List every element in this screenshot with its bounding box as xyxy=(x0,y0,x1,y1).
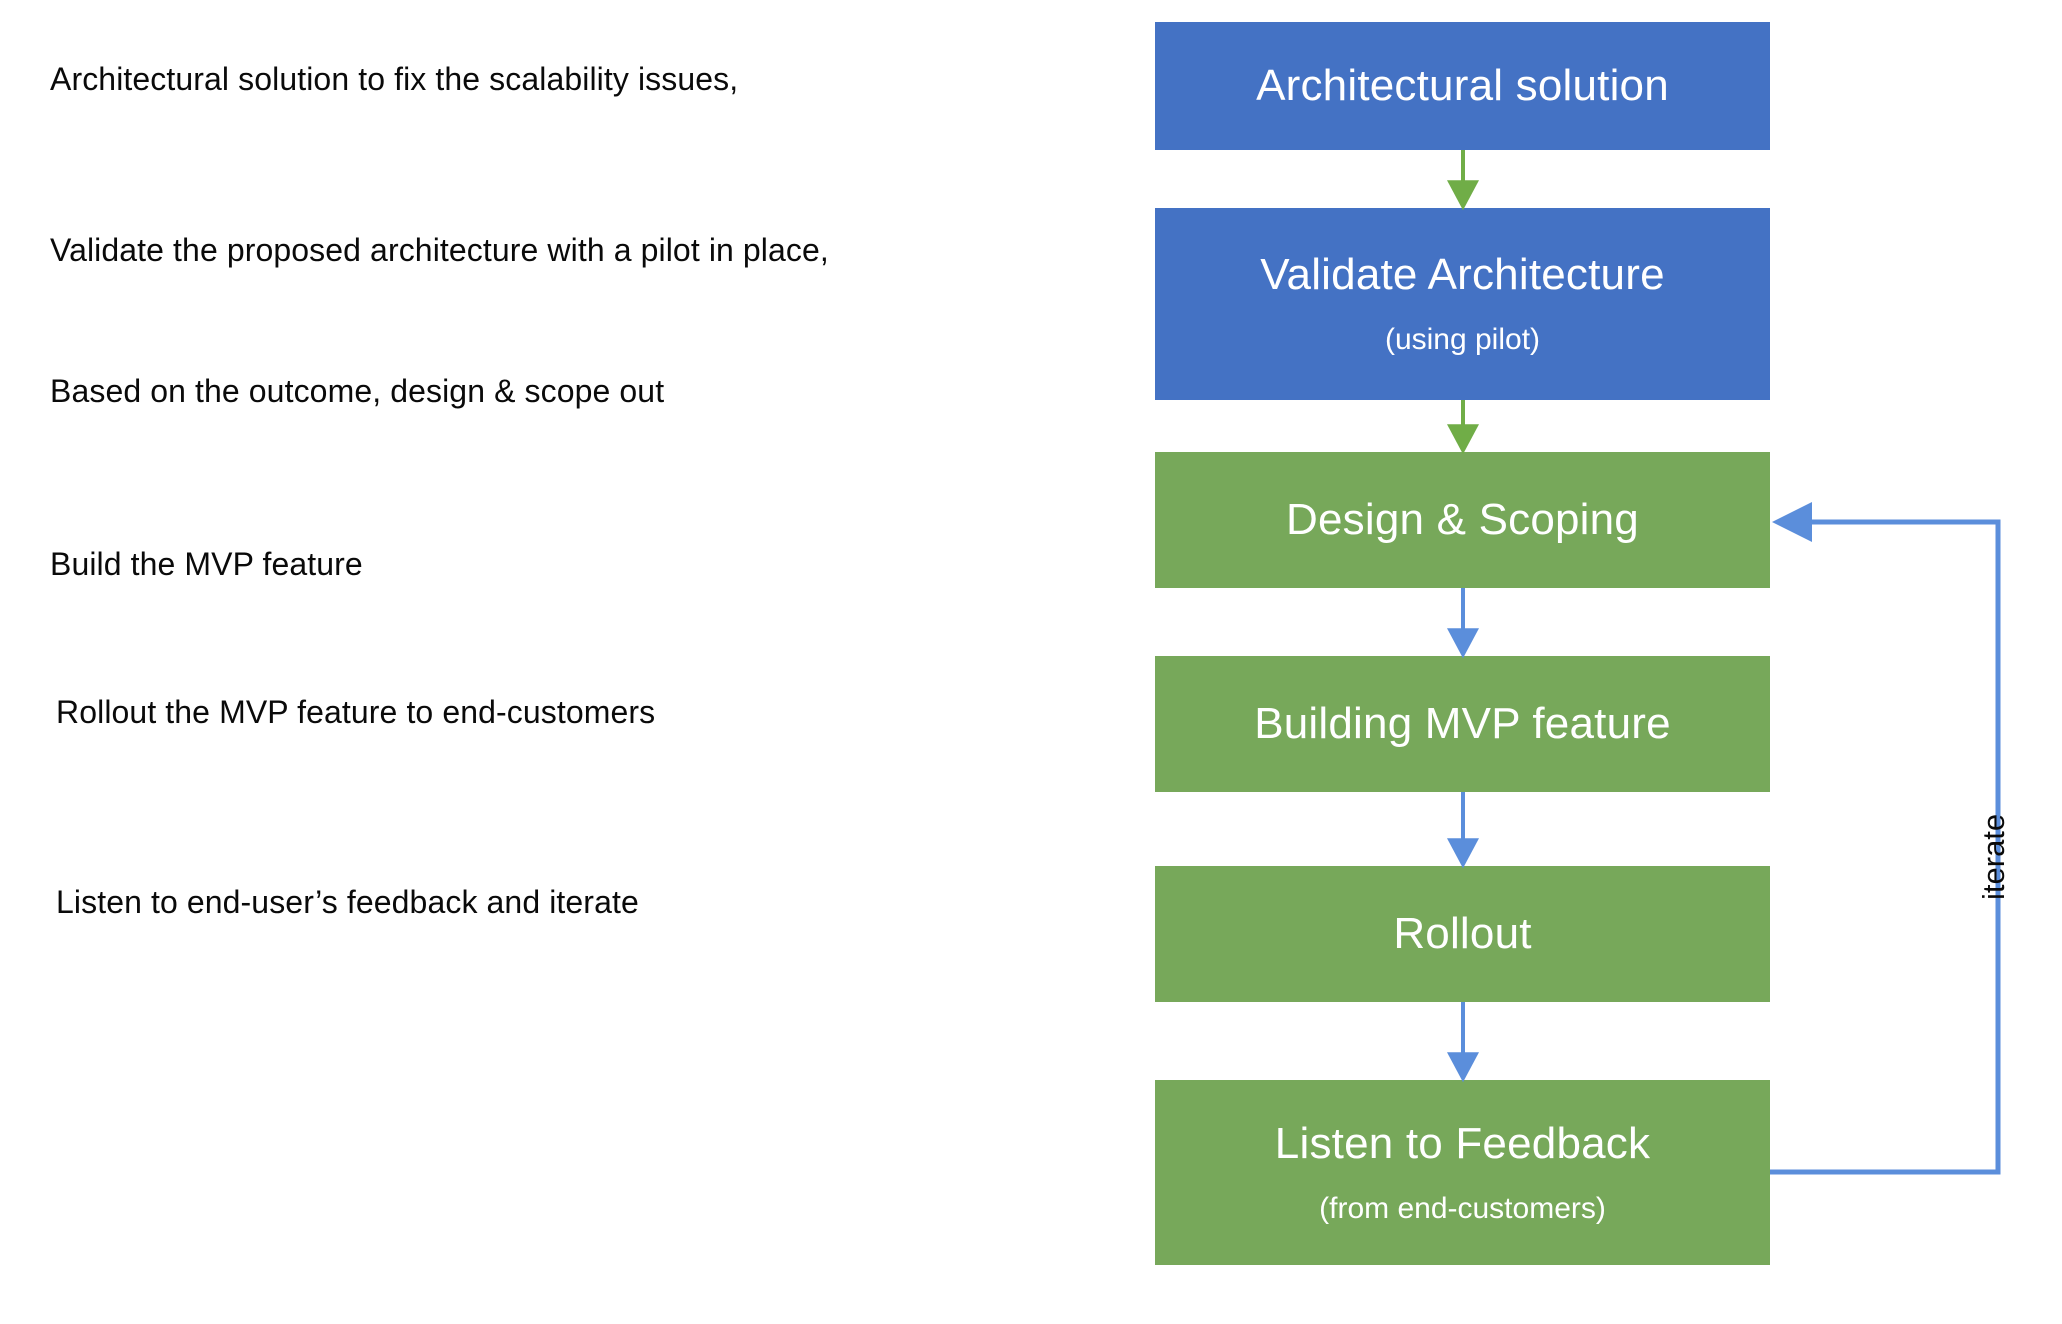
note-line-4: Build the MVP feature xyxy=(50,545,363,583)
flow-node-building-mvp-feature[interactable]: Building MVP feature xyxy=(1155,656,1770,792)
note-line-5: Rollout the MVP feature to end-customers xyxy=(56,693,655,731)
flow-node-title: Listen to Feedback xyxy=(1275,1121,1650,1167)
iterate-loop-label: iterate xyxy=(1976,814,2012,900)
connector-iterate-loop xyxy=(1770,522,1998,1172)
flow-node-title: Validate Architecture xyxy=(1260,252,1665,298)
note-line-2: Validate the proposed architecture with … xyxy=(50,231,829,269)
note-line-1: Architectural solution to fix the scalab… xyxy=(50,60,738,98)
flow-node-subtitle: (from end-customers) xyxy=(1319,1193,1606,1225)
note-line-3: Based on the outcome, design & scope out xyxy=(50,372,664,410)
flow-node-title: Rollout xyxy=(1393,911,1531,957)
flow-node-rollout[interactable]: Rollout xyxy=(1155,866,1770,1002)
flow-node-title: Building MVP feature xyxy=(1254,701,1671,747)
flow-node-subtitle: (using pilot) xyxy=(1385,324,1540,356)
flow-node-design-scoping[interactable]: Design & Scoping xyxy=(1155,452,1770,588)
flow-node-architectural-solution[interactable]: Architectural solution xyxy=(1155,22,1770,150)
flow-node-title: Architectural solution xyxy=(1256,63,1669,109)
flow-node-validate-architecture[interactable]: Validate Architecture(using pilot) xyxy=(1155,208,1770,400)
flow-node-title: Design & Scoping xyxy=(1286,497,1639,543)
slide-canvas: Architectural solution to fix the scalab… xyxy=(0,0,2062,1324)
note-line-6: Listen to end-user’s feedback and iterat… xyxy=(56,883,639,921)
flow-node-listen-to-feedback[interactable]: Listen to Feedback(from end-customers) xyxy=(1155,1080,1770,1265)
